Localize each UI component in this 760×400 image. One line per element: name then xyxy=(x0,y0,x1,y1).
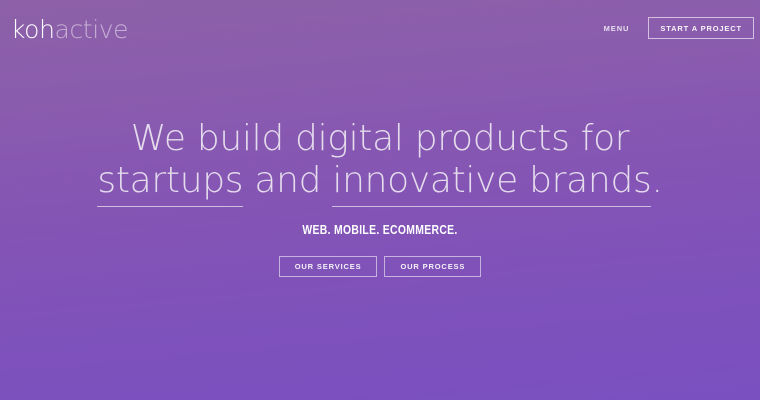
our-process-button[interactable]: OUR PROCESS xyxy=(384,256,481,277)
logo[interactable]: kohactive xyxy=(11,15,128,42)
logo-primary-text: koh xyxy=(11,15,55,44)
start-a-project-button[interactable]: START A PROJECT xyxy=(648,17,754,39)
headline-text-lead: We build digital products for xyxy=(131,118,630,159)
hero-section: We build digital products for startups a… xyxy=(0,118,760,277)
hero-subheading: WEB. MOBILE. ECOMMERCE. xyxy=(76,222,684,237)
header-nav: MENU START A PROJECT xyxy=(604,17,754,39)
site-header: kohactive MENU START A PROJECT xyxy=(0,0,760,56)
headline-link-innovative-brands[interactable]: innovative brands xyxy=(332,160,651,207)
our-services-button[interactable]: OUR SERVICES xyxy=(279,256,378,277)
headline-link-startups[interactable]: startups xyxy=(97,160,243,207)
hero-button-group: OUR SERVICES OUR PROCESS xyxy=(0,256,760,277)
page-title: We build digital products for startups a… xyxy=(0,118,760,202)
logo-secondary-text: active xyxy=(55,15,129,44)
headline-period: . xyxy=(651,160,662,201)
menu-button[interactable]: MENU xyxy=(604,24,630,33)
headline-text-and: and xyxy=(243,160,332,201)
